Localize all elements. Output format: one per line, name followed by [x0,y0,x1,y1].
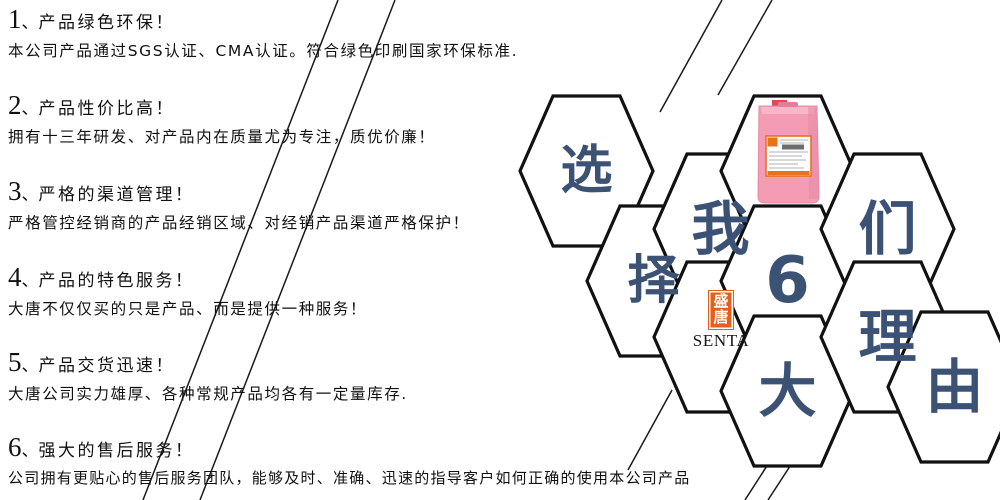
reason-heading-3: 严格的渠道管理！ [39,185,195,205]
reason-item-3: 3、严格的渠道管理！ 严格管控经销商的产品经销区域、对经销产品渠道严格保护！ [8,178,708,233]
reason-description-3: 严格管控经销商的产品经销区域、对经销产品渠道严格保护！ [8,211,708,233]
product-drum-image [752,100,824,208]
reason-number-1: 1 [8,4,22,34]
reason-heading-4: 产品的特色服务！ [39,271,195,291]
brand-mark-char-bottom: 唐 [713,310,728,326]
reason-number-6: 6 [8,432,22,462]
reason-separator-3: 、 [22,185,39,204]
reason-description-6: 公司拥有更贴心的售后服务团队，能够及时、准确、迅速的指导客户如何正确的使用本公司… [8,467,998,488]
reasons-list: 1、产品绿色环保！ 本公司产品通过SGS认证、CMA认证。符合绿色印刷国家环保标… [8,0,708,500]
drum-label-barcode [782,145,804,150]
drum-label-orange-block [768,138,778,147]
reason-heading-1: 产品绿色环保！ [39,13,176,33]
reason-title-4: 4、产品的特色服务！ [8,264,708,291]
brand-logo: 盛 唐 SENTA [683,290,759,351]
brand-mark-icon: 盛 唐 [708,290,734,330]
reason-item-2: 2、产品性价比高！ 拥有十三年研发、对产品内在质量尤为专注，质优价廉！ [8,92,708,147]
reason-separator-4: 、 [22,271,39,290]
reason-description-4: 大唐不仅仅买的只是产品、而是提供一种服务！ [8,297,708,319]
reason-separator-6: 、 [22,441,39,460]
reason-item-1: 1、产品绿色环保！ 本公司产品通过SGS认证、CMA认证。符合绿色印刷国家环保标… [8,6,708,61]
reason-item-6: 6、强大的售后服务！ 公司拥有更贴心的售后服务团队，能够及时、准确、迅速的指导客… [8,434,998,488]
reason-number-2: 2 [8,90,22,120]
reason-title-2: 2、产品性价比高！ [8,92,708,119]
reason-title-1: 1、产品绿色环保！ [8,6,708,33]
reason-heading-6: 强大的售后服务！ [39,441,195,461]
reason-separator-5: 、 [22,356,39,375]
reason-title-6: 6、强大的售后服务！ [8,434,998,461]
reason-title-5: 5、产品交货迅速！ [8,349,708,376]
reason-number-3: 3 [8,176,22,206]
reason-heading-2: 产品性价比高！ [39,99,176,119]
reason-title-3: 3、严格的渠道管理！ [8,178,708,205]
reason-item-4: 4、产品的特色服务！ 大唐不仅仅买的只是产品、而是提供一种服务！ [8,264,708,319]
reason-description-1: 本公司产品通过SGS认证、CMA认证。符合绿色印刷国家环保标准. [8,39,708,61]
drum-label-footer [768,171,810,175]
product-drum-cell [752,100,824,208]
drum-top-highlight [761,107,815,114]
brand-name: SENTA [683,331,759,351]
reason-number-5: 5 [8,347,22,377]
reason-separator-2: 、 [22,99,39,118]
reason-number-4: 4 [8,262,22,292]
reason-description-2: 拥有十三年研发、对产品内在质量尤为专注，质优价廉！ [8,125,708,147]
reason-separator-1: 、 [22,13,39,32]
drum-handle [778,102,798,107]
promo-banner: 选 择 我 们 6 理 大 由 [0,0,1000,500]
reason-item-5: 5、产品交货迅速！ 大唐公司实力雄厚、各种常规产品均各有一定量库存. [8,349,708,404]
reason-description-5: 大唐公司实力雄厚、各种常规产品均各有一定量库存. [8,382,708,404]
reason-heading-5: 产品交货迅速！ [39,356,176,376]
